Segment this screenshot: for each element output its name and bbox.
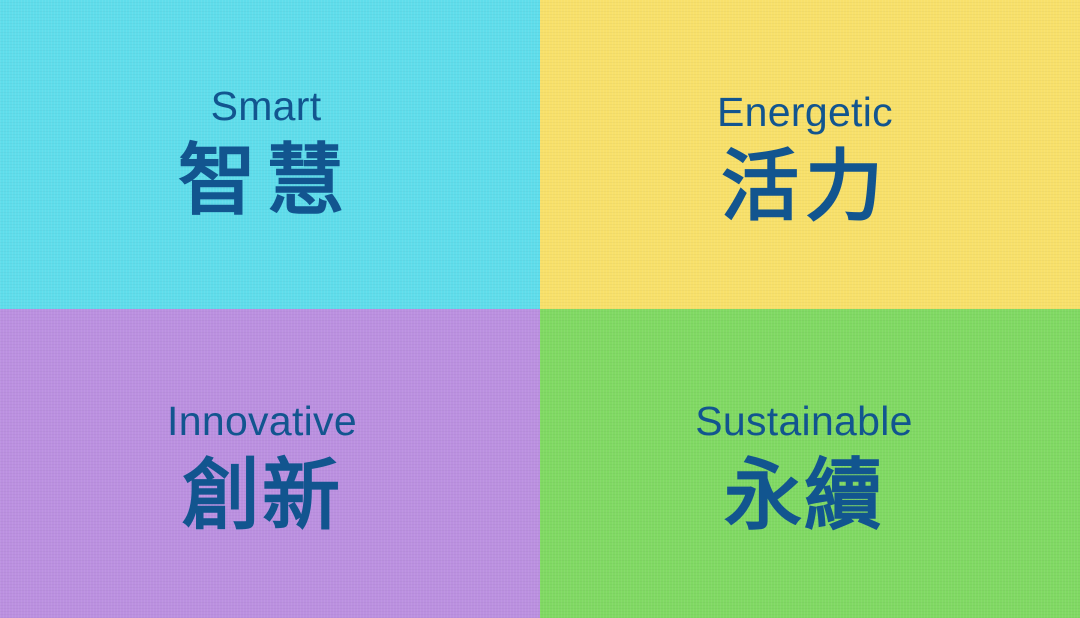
quadrant-smart-label-zh: 智慧 bbox=[178, 140, 354, 223]
quadrant-sustainable-content: Sustainable 永續 bbox=[695, 401, 913, 538]
quadrant-smart[interactable]: Smart 智慧 bbox=[0, 0, 540, 309]
quadrant-sustainable-label-zh: 永續 bbox=[724, 455, 884, 538]
quadrant-energetic-label-zh: 活力 bbox=[721, 146, 889, 229]
quadrant-innovative-label-en: Innovative bbox=[167, 401, 357, 442]
quadrant-sustainable[interactable]: Sustainable 永續 bbox=[540, 309, 1080, 618]
quadrant-energetic-content: Energetic 活力 bbox=[717, 92, 893, 229]
quadrant-innovative-label-zh: 創新 bbox=[182, 455, 342, 538]
quadrant-energetic[interactable]: Energetic 活力 bbox=[540, 0, 1080, 309]
quadrant-smart-label-en: Smart bbox=[211, 86, 322, 127]
quadrant-sustainable-label-en: Sustainable bbox=[695, 401, 913, 442]
quadrant-innovative-content: Innovative 創新 bbox=[167, 401, 357, 538]
brand-values-poster: Smart 智慧 Energetic 活力 Innovative 創新 Sust… bbox=[0, 0, 1080, 618]
quadrant-smart-content: Smart 智慧 bbox=[178, 86, 354, 223]
quadrant-innovative[interactable]: Innovative 創新 bbox=[0, 309, 540, 618]
quadrant-energetic-label-en: Energetic bbox=[717, 92, 893, 133]
